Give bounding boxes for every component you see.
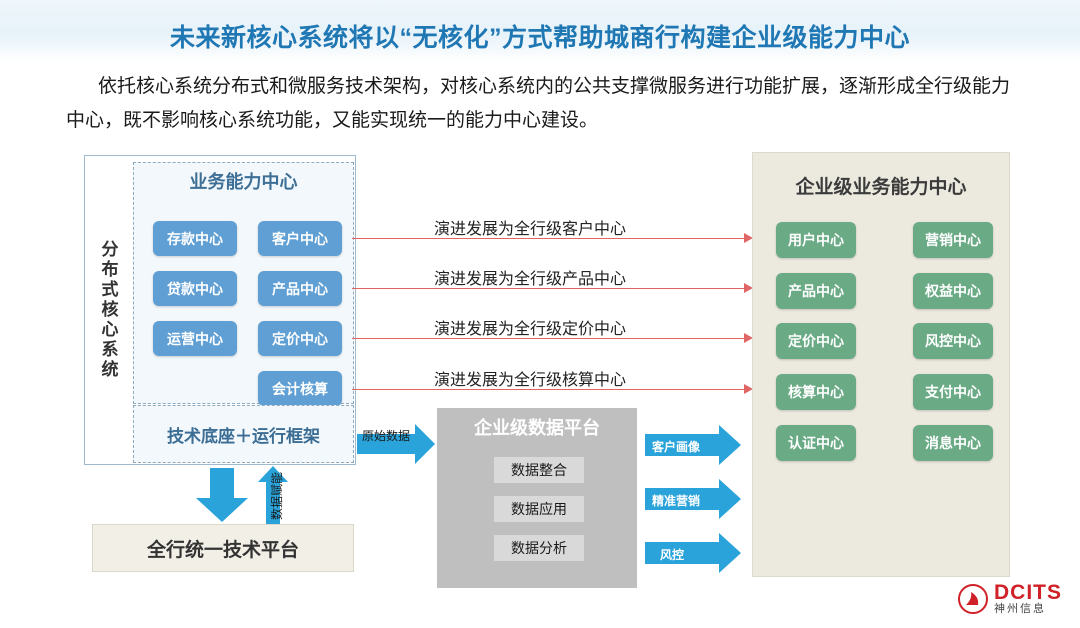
evolution-label-4: 演进发展为全行级核算中心 <box>434 366 626 390</box>
core-pill-customer[interactable]: 客户中心 <box>258 221 342 256</box>
ent-pill-rights[interactable]: 权益中心 <box>913 273 993 309</box>
evolution-label-1: 演进发展为全行级客户中心 <box>434 215 626 239</box>
raw-data-label: 原始数据 <box>362 427 410 444</box>
risk-control-label: 风控 <box>660 546 684 563</box>
enterprise-capability-title: 企业级业务能力中心 <box>752 172 1010 199</box>
tech-base-box: 技术底座＋运行框架 <box>133 405 354 463</box>
enterprise-capability-container <box>752 152 1010 577</box>
logo-cn-text: 神州信息 <box>994 604 1062 616</box>
brand-logo: DCITS 神州信息 <box>958 582 1062 616</box>
data-platform-item-application[interactable]: 数据应用 <box>493 495 585 523</box>
evolution-label-2: 演进发展为全行级产品中心 <box>434 265 626 289</box>
page-title: 未来新核心系统将以“无核化”方式帮助城商行构建企业级能力中心 <box>0 18 1080 54</box>
ent-pill-accounting[interactable]: 核算中心 <box>776 374 856 410</box>
ent-pill-message[interactable]: 消息中心 <box>913 425 993 461</box>
data-platform-item-integration[interactable]: 数据整合 <box>493 456 585 484</box>
dcits-mark-icon <box>958 584 988 614</box>
core-pill-product[interactable]: 产品中心 <box>258 271 342 306</box>
data-platform-title: 企业级数据平台 <box>437 414 637 440</box>
data-platform-item-analysis[interactable]: 数据分析 <box>493 534 585 562</box>
ent-pill-marketing[interactable]: 营销中心 <box>913 222 993 258</box>
ent-pill-auth[interactable]: 认证中心 <box>776 425 856 461</box>
ent-pill-payment[interactable]: 支付中心 <box>913 374 993 410</box>
core-pill-pricing[interactable]: 定价中心 <box>258 321 342 356</box>
distributed-core-label: 分布式核心系统 <box>86 160 130 460</box>
ent-pill-product[interactable]: 产品中心 <box>776 273 856 309</box>
ent-pill-user[interactable]: 用户中心 <box>776 222 856 258</box>
ent-pill-pricing[interactable]: 定价中心 <box>776 323 856 359</box>
business-capability-center-title: 业务能力中心 <box>133 168 354 194</box>
data-empowerment-label: 数据赋能 <box>268 472 285 520</box>
unified-tech-platform: 全行统一技术平台 <box>92 524 354 572</box>
logo-en-text: DCITS <box>994 582 1062 604</box>
core-pill-accounting[interactable]: 会计核算 <box>258 371 342 406</box>
page-subtitle: 依托核心系统分布式和微服务技术架构，对核心系统内的公共支撑微服务进行功能扩展，逐… <box>66 70 1026 138</box>
evolution-label-3: 演进发展为全行级定价中心 <box>434 315 626 339</box>
customer-profile-label: 客户画像 <box>652 438 700 455</box>
tech-base-down-arrow <box>196 468 248 522</box>
core-pill-operation[interactable]: 运营中心 <box>153 321 237 356</box>
core-pill-deposit[interactable]: 存款中心 <box>153 221 237 256</box>
core-pill-loan[interactable]: 贷款中心 <box>153 271 237 306</box>
precision-marketing-label: 精准营销 <box>652 492 700 509</box>
ent-pill-risk[interactable]: 风控中心 <box>913 323 993 359</box>
